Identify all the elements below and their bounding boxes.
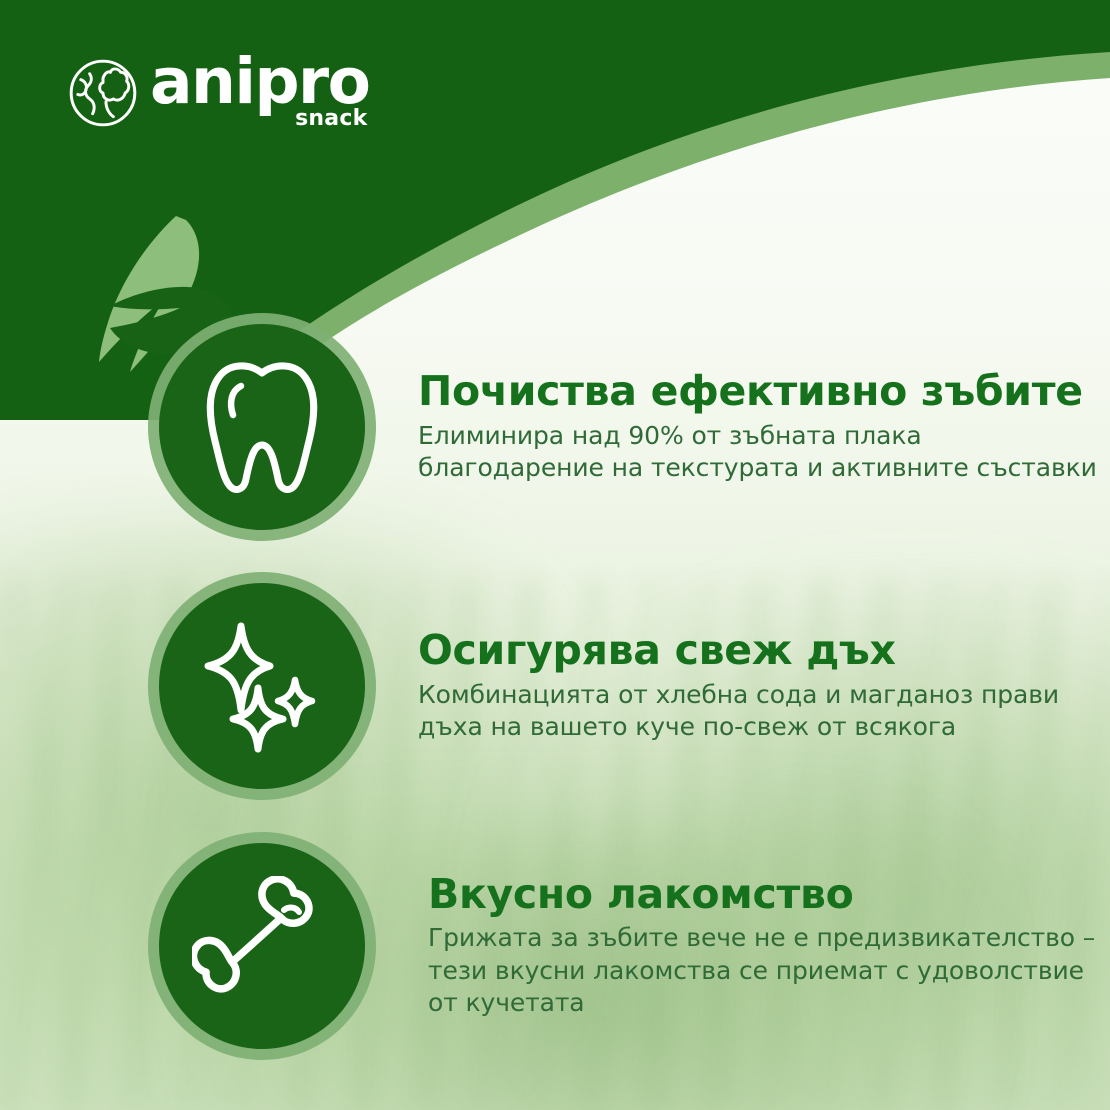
feature-body: Грижата за зъбите вече не е предизвикате… [428,922,1110,1020]
feature-item-bone: Вкусно лакомство Грижата за зъбите вече … [148,832,1110,1060]
feature-title: Почиства ефективно зъбите [418,369,1110,413]
feature-title: Вкусно лакомство [428,872,1110,916]
bone-icon [192,876,332,1016]
brand-subtitle: snack [295,108,367,130]
feature-item-tooth: Почиства ефективно зъбите Елиминира над … [148,313,1110,541]
globe-pet-icon [66,56,140,130]
feature-item-sparkles: Осигурява свеж дъх Комбинацията от хлебн… [148,572,1110,800]
brand-logo: anipro snack [66,52,369,130]
feature-body: Комбинацията от хлебна сода и магданоз п… [418,679,1110,744]
feature-text: Почиства ефективно зъбите Елиминира над … [418,369,1110,484]
feature-badge [148,313,376,541]
brand-name: anipro [150,52,369,112]
feature-badge [148,572,376,800]
sparkles-icon [194,618,330,754]
feature-text: Вкусно лакомство Грижата за зъбите вече … [428,872,1110,1020]
brand-wordmark: anipro snack [150,52,369,112]
badge-disc [159,583,365,789]
feature-title: Осигурява свеж дъх [418,628,1110,672]
promo-poster: anipro snack Почиства ефективно зъбите Е… [0,0,1110,1110]
badge-disc [159,324,365,530]
feature-text: Осигурява свеж дъх Комбинацията от хлебн… [418,628,1110,743]
tooth-icon [199,359,325,495]
feature-badge [148,832,376,1060]
feature-body: Елиминира над 90% от зъбната плака благо… [418,420,1110,485]
badge-disc [159,843,365,1049]
